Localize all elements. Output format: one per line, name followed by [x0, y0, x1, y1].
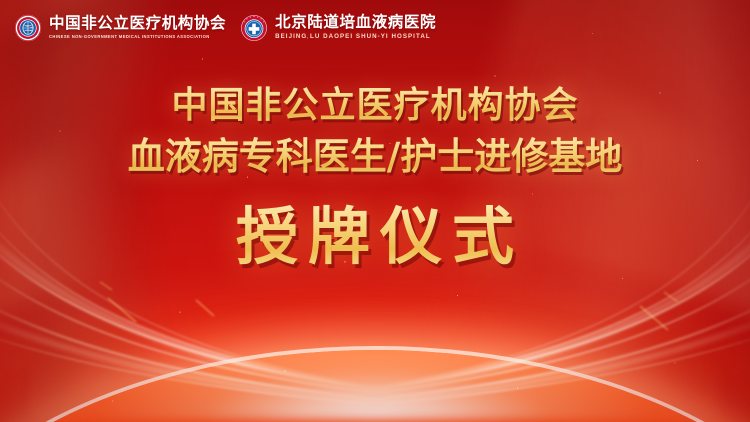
medical-cross-seal-icon: [240, 14, 268, 42]
org-name-cn: 中国非公立医疗机构协会: [49, 16, 226, 32]
poster-backdrop: 中国非公立医疗机构协会 CHINESE NON-GOVERNMENT MEDIC…: [0, 0, 750, 422]
header-logo-bar: 中国非公立医疗机构协会 CHINESE NON-GOVERNMENT MEDIC…: [0, 0, 750, 55]
org-name-en: BEIJING LU DAOPEI SHUN-YI HOSPITAL: [275, 34, 436, 41]
logo-unit-cnmia: 中国非公立医疗机构协会 CHINESE NON-GOVERNMENT MEDIC…: [14, 14, 226, 42]
org-text-bjldp: 北京陆道培血液病医院 BEIJING LU DAOPEI SHUN-YI HOS…: [275, 15, 436, 41]
org-name-en: CHINESE NON-GOVERNMENT MEDICAL INSTITUTI…: [49, 35, 226, 39]
background-vignette: [0, 0, 750, 422]
org-name-cn: 北京陆道培血液病医院: [275, 15, 436, 31]
association-seal-icon: [14, 14, 42, 42]
logo-unit-bjldp: 北京陆道培血液病医院 BEIJING LU DAOPEI SHUN-YI HOS…: [240, 14, 436, 42]
org-text-cnmia: 中国非公立医疗机构协会 CHINESE NON-GOVERNMENT MEDIC…: [49, 16, 226, 39]
